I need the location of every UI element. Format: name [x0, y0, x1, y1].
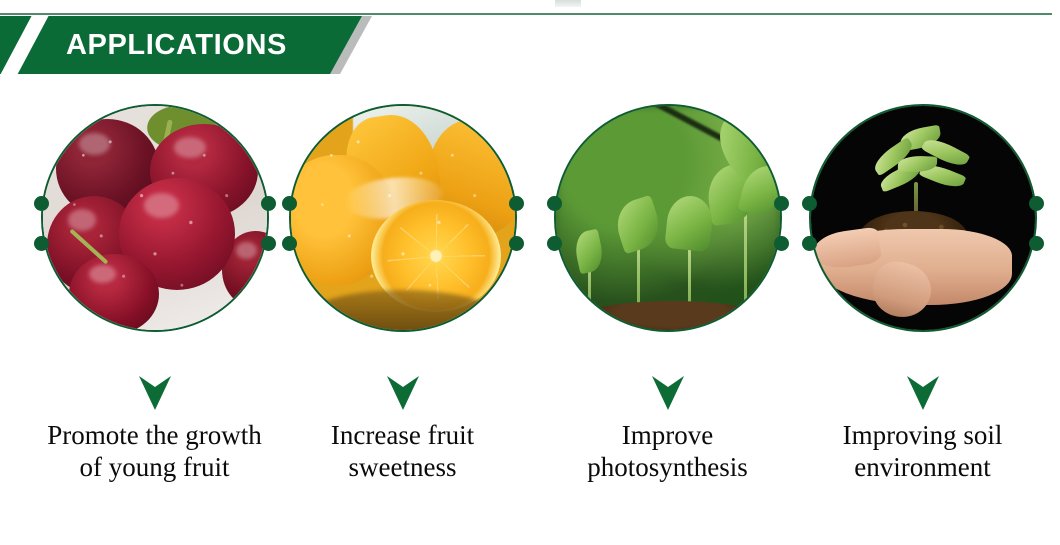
page-title: APPLICATIONS [66, 16, 287, 74]
application-item-0[interactable]: Promote the growth of young fruit [22, 104, 287, 504]
application-caption-2: Improve photosynthesis [535, 420, 800, 484]
circle-image-hand-soil [809, 104, 1037, 332]
accent-dot-top-left [802, 196, 817, 211]
circle-media-0[interactable] [41, 104, 269, 332]
cherries-illustration [43, 106, 267, 330]
chevron-down-icon [139, 376, 171, 410]
circle-media-3[interactable] [809, 104, 1037, 332]
accent-dot-bottom-left [547, 236, 562, 251]
circle-media-2[interactable] [554, 104, 782, 332]
oranges-illustration [291, 106, 515, 330]
accent-dot-bottom-right [774, 236, 789, 251]
header-divider-line [0, 13, 1052, 15]
application-item-2[interactable]: Improve photosynthesis [535, 104, 800, 504]
top-edge-nub [555, 0, 581, 7]
accent-dot-top-right [774, 196, 789, 211]
accent-dot-bottom-left [34, 236, 49, 251]
application-caption-0: Promote the growth of young fruit [22, 420, 287, 484]
circle-media-1[interactable] [289, 104, 517, 332]
hand-holding-soil-illustration [811, 106, 1035, 330]
chevron-down-icon [907, 376, 939, 410]
application-caption-3: Improving soil environment [790, 420, 1055, 484]
accent-dot-top-left [282, 196, 297, 211]
chevron-down-icon [652, 376, 684, 410]
circle-image-seedlings [554, 104, 782, 332]
accent-dot-bottom-right [1029, 236, 1044, 251]
circle-image-cherries [41, 104, 269, 332]
accent-dot-bottom-right [509, 236, 524, 251]
accent-dot-top-left [547, 196, 562, 211]
accent-dot-top-right [1029, 196, 1044, 211]
accent-dot-top-left [34, 196, 49, 211]
application-item-1[interactable]: Increase fruit sweetness [270, 104, 535, 504]
banner-diagonal-slash-icon [0, 12, 51, 86]
accent-dot-bottom-left [802, 236, 817, 251]
application-item-3[interactable]: Improving soil environment [790, 104, 1055, 504]
seedlings-illustration [556, 106, 780, 330]
accent-dot-bottom-left [282, 236, 297, 251]
chevron-down-icon [387, 376, 419, 410]
application-caption-1: Increase fruit sweetness [270, 420, 535, 484]
applications-banner: APPLICATIONS [0, 16, 400, 74]
applications-grid: Promote the growth of young fruit [0, 104, 1060, 504]
circle-image-oranges [289, 104, 517, 332]
accent-dot-top-right [509, 196, 524, 211]
